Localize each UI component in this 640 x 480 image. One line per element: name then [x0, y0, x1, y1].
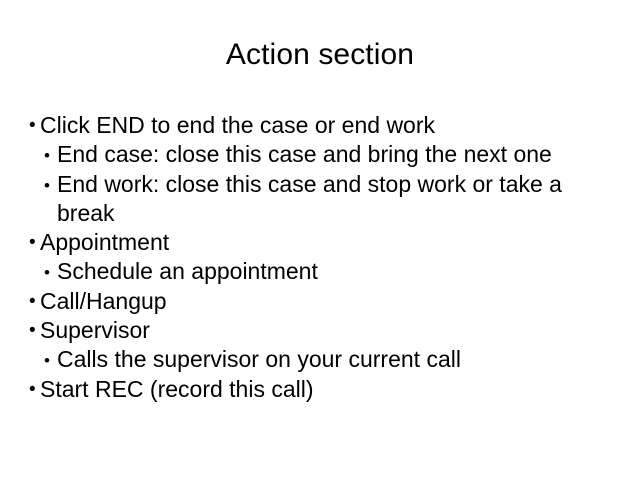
slide-canvas: Action section • Click END to end the ca…: [0, 0, 640, 480]
list-item-label: Call/Hangup: [40, 287, 613, 316]
bullet-icon: •: [29, 316, 40, 345]
list-item-label: Appointment: [40, 228, 613, 257]
list-item-label: Schedule an appointment: [57, 257, 613, 286]
list-item: • Schedule an appointment: [29, 257, 613, 287]
bullet-icon: •: [44, 257, 57, 287]
list-item: • End work: close this case and stop wor…: [29, 170, 613, 228]
list-item-label: Calls the supervisor on your current cal…: [57, 345, 613, 374]
list-item-label: Start REC (record this call): [40, 375, 613, 404]
list-item: • Call/Hangup: [29, 287, 613, 316]
list-item-label: End work: close this case and stop work …: [57, 170, 613, 228]
bullet-icon: •: [29, 228, 40, 257]
bullet-icon: •: [44, 140, 57, 170]
list-item-label: Supervisor: [40, 316, 613, 345]
bullet-list: • Click END to end the case or end work …: [29, 111, 613, 404]
bullet-icon: •: [44, 345, 57, 375]
list-item-label: Click END to end the case or end work: [40, 111, 613, 140]
list-item: • End case: close this case and bring th…: [29, 140, 613, 170]
list-item: • Supervisor: [29, 316, 613, 345]
list-item: • Appointment: [29, 228, 613, 257]
page-title: Action section: [0, 38, 640, 72]
bullet-icon: •: [29, 111, 40, 140]
list-item-label: End case: close this case and bring the …: [57, 140, 613, 169]
list-item: • Calls the supervisor on your current c…: [29, 345, 613, 375]
bullet-icon: •: [44, 170, 57, 200]
bullet-icon: •: [29, 287, 40, 316]
list-item: • Start REC (record this call): [29, 375, 613, 404]
list-item: • Click END to end the case or end work: [29, 111, 613, 140]
bullet-icon: •: [29, 375, 40, 404]
